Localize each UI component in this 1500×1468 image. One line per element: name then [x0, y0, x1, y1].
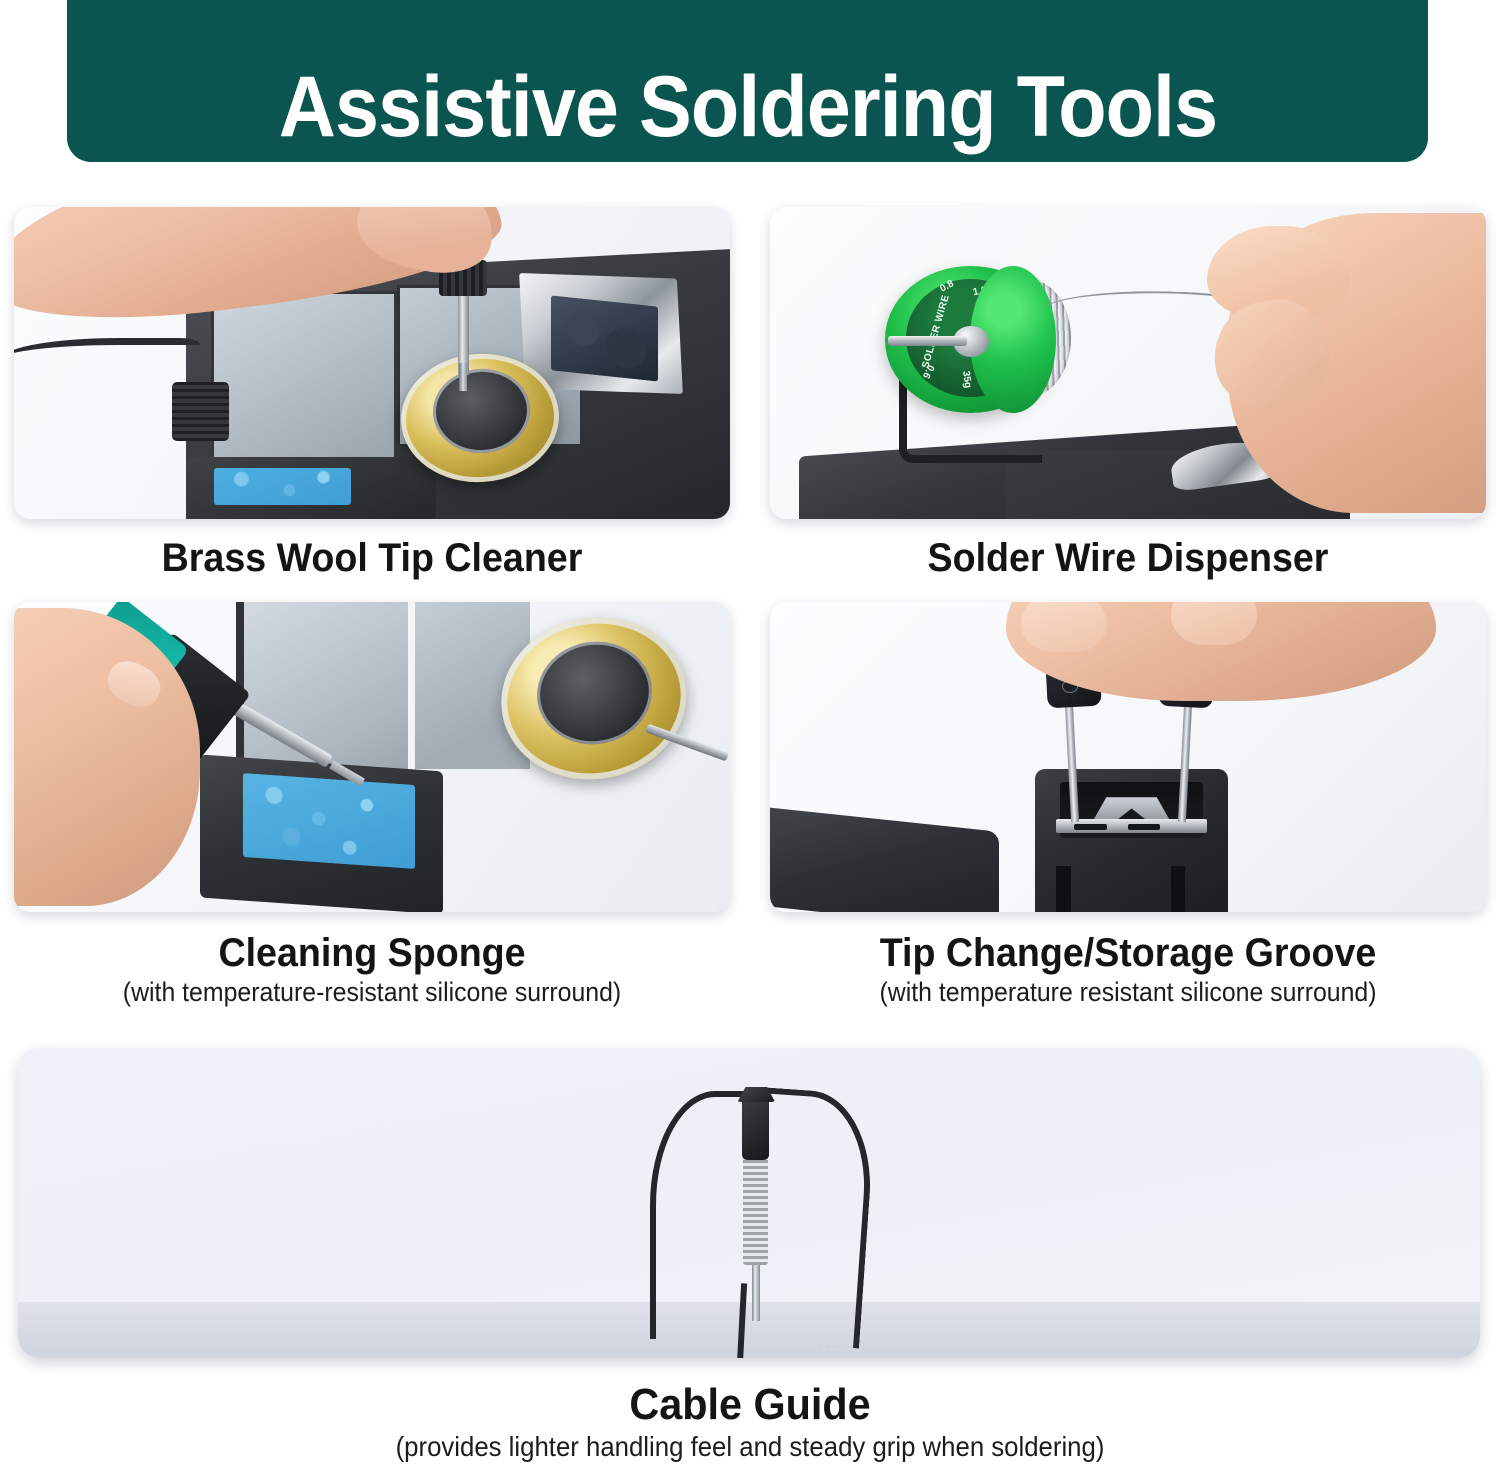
- caption-subtitle: (provides lighter handling feel and stea…: [60, 1431, 1440, 1463]
- block-leg-left: [1056, 866, 1070, 913]
- station-knob: [172, 382, 229, 441]
- caption-title: Tip Change/Storage Groove: [791, 932, 1464, 974]
- feature-card-tip-change-storage-groove: Tip Change/Storage Groove (with temperat…: [770, 602, 1486, 912]
- cable-guide-spring: [743, 1153, 768, 1265]
- caption-title: Cleaning Sponge: [35, 932, 708, 974]
- groove-slot-left: [1074, 824, 1106, 830]
- spool-mark-4: 35g: [960, 370, 973, 389]
- screwdriver-tip: [459, 363, 467, 391]
- station-panel-left: [211, 291, 397, 466]
- feature-card-brass-wool-tip-cleaner: Brass Wool Tip Cleaner: [14, 207, 730, 519]
- caption-brass-wool-tip-cleaner: Brass Wool Tip Cleaner: [14, 537, 730, 579]
- feature-card-cleaning-sponge: Cleaning Sponge (with temperature-resist…: [14, 602, 730, 912]
- photo-solder-wire-dispenser: SOLDER WIRE 0.8 1.0 50g 80g 35g 0.6: [770, 207, 1486, 519]
- spool-axle: [888, 336, 967, 345]
- spool-brand-text: SOLDER WIRE: [921, 294, 953, 370]
- caption-title: Solder Wire Dispenser: [791, 537, 1464, 579]
- photo-brass-wool-tip-cleaner: [14, 207, 730, 519]
- cleaning-sponge-blue: [243, 773, 415, 869]
- caption-title: Cable Guide: [45, 1382, 1455, 1428]
- finger-left-icon: [1021, 602, 1107, 652]
- cleaning-sponge-blue: [214, 468, 350, 505]
- caption-tip-change-storage-groove: Tip Change/Storage Groove (with temperat…: [770, 932, 1486, 1008]
- cable-guide-cap: [742, 1098, 770, 1160]
- infographic-page: Assistive Soldering Tools Brass Wool Tip…: [0, 0, 1500, 1468]
- caption-cleaning-sponge: Cleaning Sponge (with temperature-resist…: [14, 932, 730, 1008]
- photo-cable-guide: [18, 1048, 1480, 1358]
- caption-subtitle: (with temperature resistant silicone sur…: [799, 977, 1458, 1008]
- feature-card-solder-wire-dispenser: SOLDER WIRE 0.8 1.0 50g 80g 35g 0.6 Sold…: [770, 207, 1486, 519]
- page-title: Assistive Soldering Tools: [278, 64, 1216, 150]
- block-leg-right: [1171, 866, 1185, 913]
- groove-slot-right: [1128, 824, 1160, 830]
- brass-wool-mesh: [551, 295, 658, 381]
- photo-tip-change-storage-groove: [770, 602, 1486, 912]
- photo-cleaning-sponge: [14, 602, 730, 912]
- caption-subtitle: (with temperature-resistant silicone sur…: [43, 977, 702, 1008]
- caption-title: Brass Wool Tip Cleaner: [35, 537, 708, 579]
- header-banner: Assistive Soldering Tools: [67, 0, 1428, 162]
- caption-solder-wire-dispenser: Solder Wire Dispenser: [770, 537, 1486, 579]
- caption-cable-guide: Cable Guide (provides lighter handling f…: [0, 1382, 1500, 1463]
